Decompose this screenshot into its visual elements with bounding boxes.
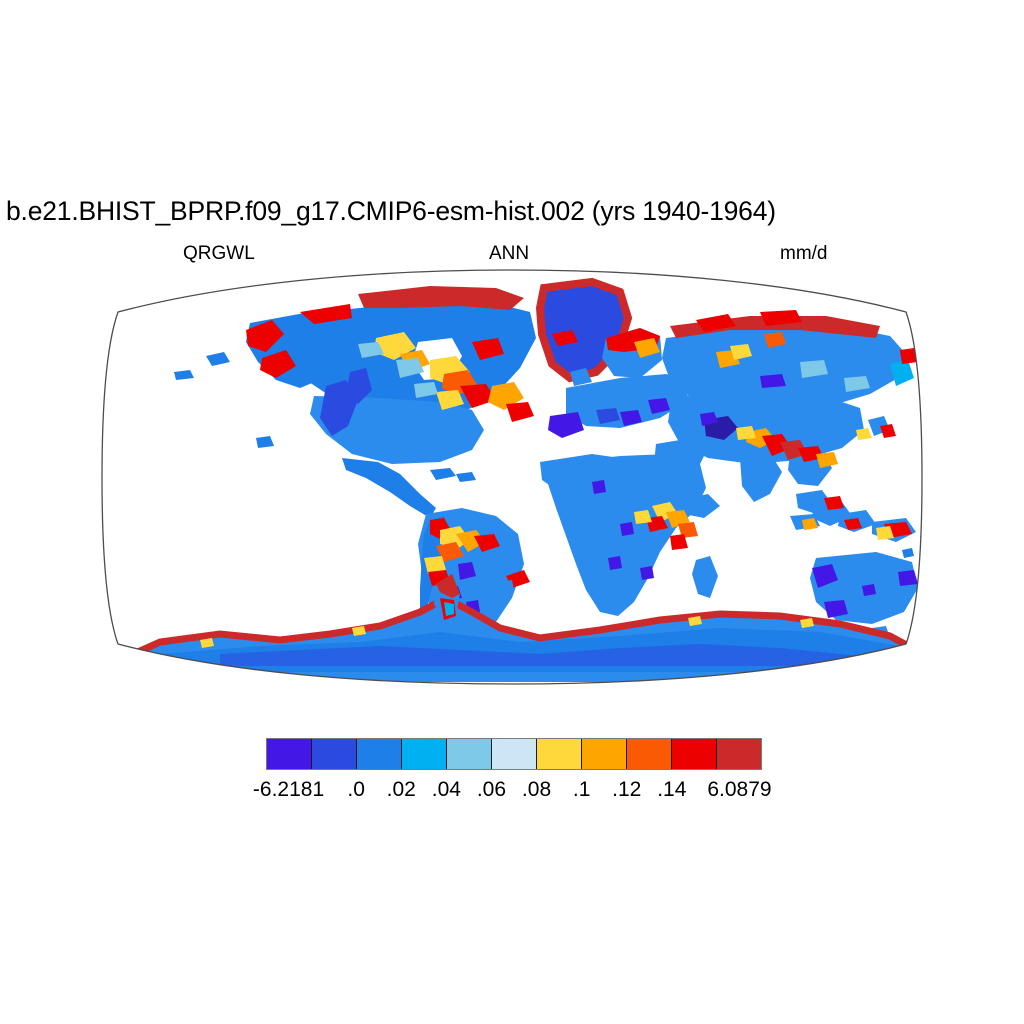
page-title: b.e21.BHIST_BPRP.f09_g17.CMIP6-esm-hist.… [6, 196, 1020, 226]
colorbar-tick-2: .02 [387, 778, 416, 802]
colorbar-tick-5: .08 [522, 778, 551, 802]
world-map [100, 268, 924, 688]
colorbar-cell-1 [312, 739, 357, 769]
colorbar-cell-4 [447, 739, 492, 769]
colorbar-tick-7: .12 [612, 778, 641, 802]
colorbar-tick-1: .0 [347, 778, 365, 802]
map-canvas [100, 268, 924, 688]
variable-label: QRGWL [183, 243, 255, 265]
colorbar-cell-2 [357, 739, 402, 769]
colorbar-cell-9 [672, 739, 717, 769]
colorbar-cell-5 [492, 739, 537, 769]
colorbar-cell-0 [267, 739, 312, 769]
colorbar-tick-9: 6.0879 [707, 778, 771, 802]
colorbar-tick-labels: -6.2181.0.02.04.06.08.1.12.146.0879 [0, 778, 1024, 804]
colorbar [266, 738, 762, 770]
colorbar-cell-3 [402, 739, 447, 769]
season-label: ANN [489, 243, 529, 265]
climate-map-figure: b.e21.BHIST_BPRP.f09_g17.CMIP6-esm-hist.… [0, 0, 1024, 1024]
colorbar-cell-8 [627, 739, 672, 769]
colorbar-tick-8: .14 [657, 778, 686, 802]
units-label: mm/d [780, 243, 828, 265]
colorbar-tick-0: -6.2181 [253, 778, 324, 802]
colorbar-cell-7 [582, 739, 627, 769]
colorbar-cell-6 [537, 739, 582, 769]
colorbar-tick-3: .04 [432, 778, 461, 802]
colorbar-tick-6: .1 [573, 778, 591, 802]
colorbar-swatches [266, 738, 762, 770]
colorbar-cell-10 [717, 739, 761, 769]
colorbar-tick-4: .06 [477, 778, 506, 802]
